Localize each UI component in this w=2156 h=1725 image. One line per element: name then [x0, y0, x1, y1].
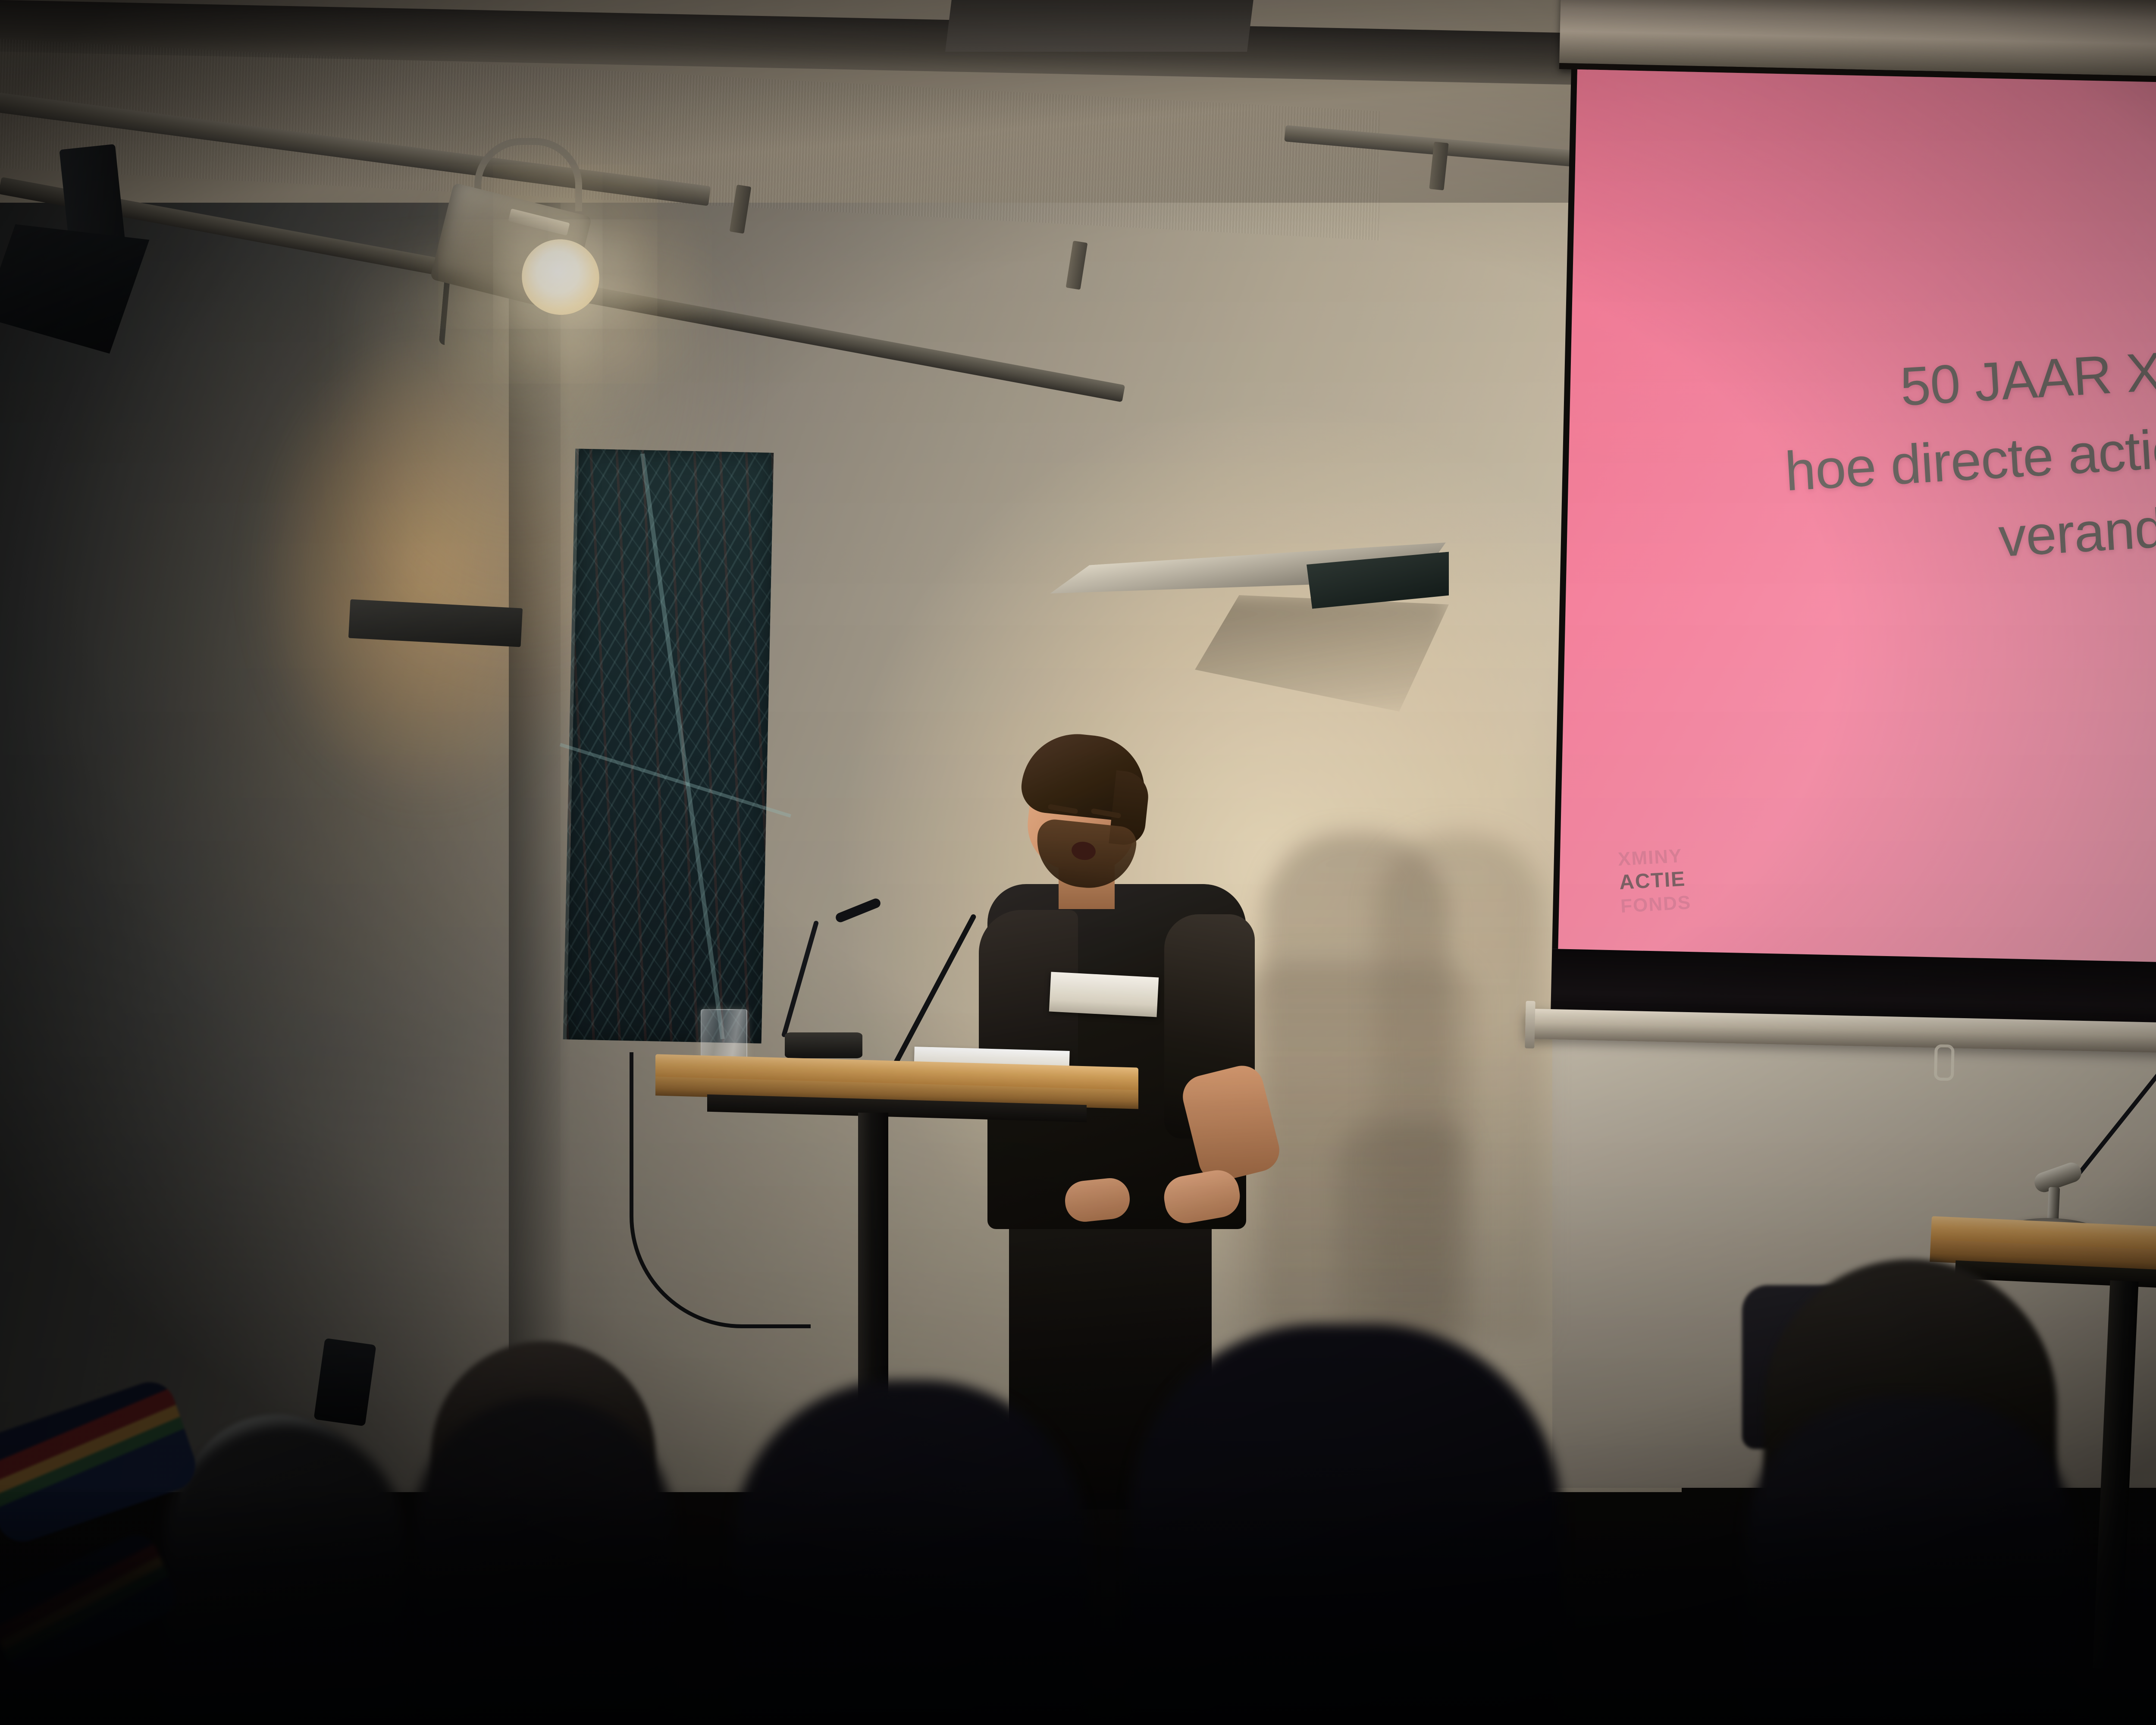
stage-lamp-black-icon [0, 147, 181, 328]
screen-left-hook [1525, 1001, 1535, 1048]
slide-logo: XMINY ACTIE FONDS [1617, 841, 1763, 918]
lectern-mic-base [785, 1032, 862, 1058]
audience-foreground-shade [0, 1483, 2156, 1725]
wall-bracket-shelf [1052, 554, 1483, 619]
speaker-tshirt-logo-patch [1049, 972, 1159, 1017]
ceiling-duct [945, 0, 1254, 52]
photo-scene: 50 JAAR XMINY: hoe directe actie de were… [0, 0, 2156, 1725]
screen-pull-ring-icon[interactable] [1934, 1044, 1955, 1081]
spotlight-icon [423, 168, 621, 349]
framed-map-artwork [563, 448, 774, 1043]
